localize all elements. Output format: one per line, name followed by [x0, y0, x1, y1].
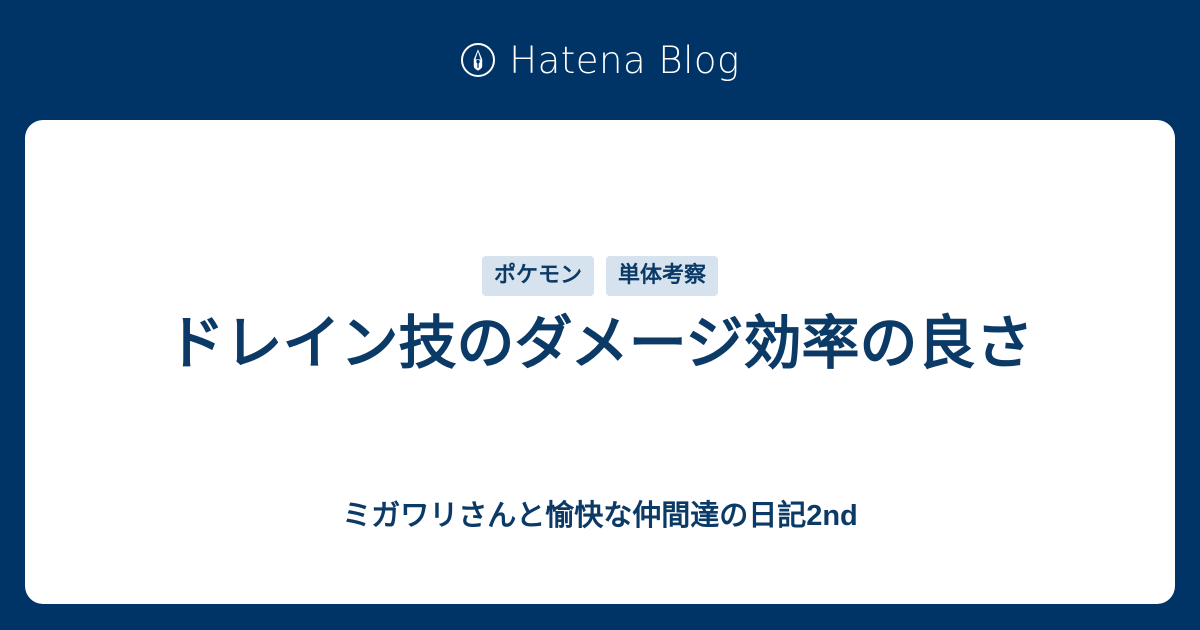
- tag-item[interactable]: ポケモン: [482, 256, 594, 296]
- fountain-pen-nib-in-circle-icon: [460, 42, 496, 78]
- hatena-blog-brand-header: Hatena Blog: [0, 0, 1200, 120]
- entry-title: ドレイン技のダメージ効率の良さ: [25, 308, 1175, 381]
- blog-title: ミガワリさんと愉快な仲間達の日記2nd: [25, 498, 1175, 536]
- hatena-blog-logo: [460, 42, 496, 78]
- brand-name-label: Hatena Blog: [509, 42, 740, 79]
- card-content: ポケモン 単体考察 ドレイン技のダメージ効率の良さ ミガワリさんと愉快な仲間達の…: [25, 120, 1175, 604]
- entry-preview-card: ポケモン 単体考察 ドレイン技のダメージ効率の良さ ミガワリさんと愉快な仲間達の…: [25, 120, 1175, 604]
- tag-item[interactable]: 単体考察: [606, 256, 718, 296]
- tag-list: ポケモン 単体考察: [25, 256, 1175, 296]
